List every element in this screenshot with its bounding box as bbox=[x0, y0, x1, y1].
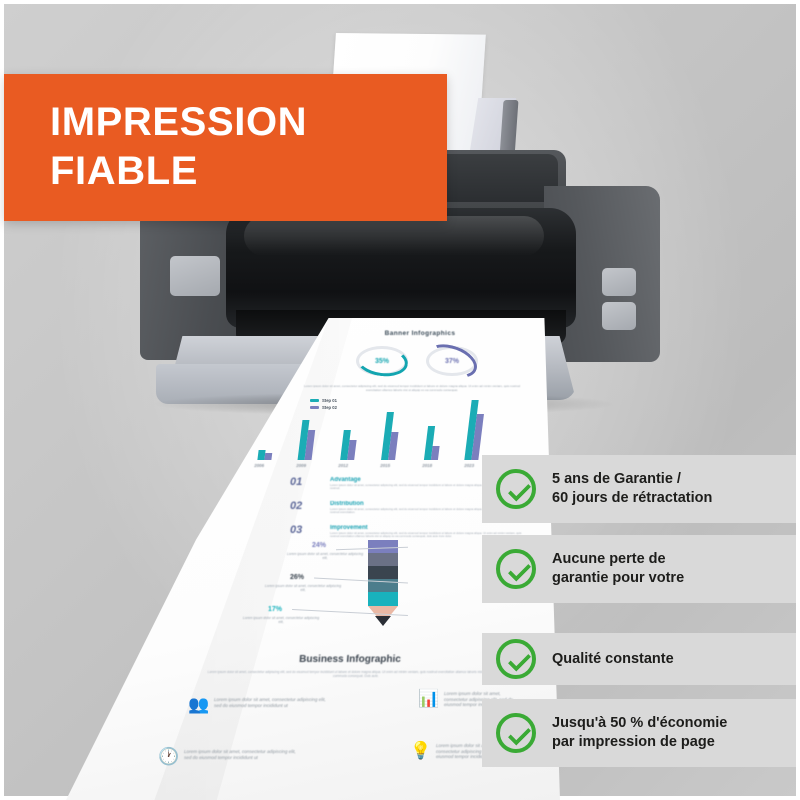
check-circle-icon bbox=[496, 713, 536, 753]
feature-line-2: par impression de page bbox=[552, 734, 715, 750]
panel-button-left[interactable] bbox=[170, 256, 220, 296]
bar-step-02 bbox=[431, 446, 440, 460]
funnel-segment-5 bbox=[368, 592, 398, 606]
feature-callout-text: Jusqu'à 50 % d'économie par impression d… bbox=[552, 714, 727, 752]
feature-line-1: Aucune perte de bbox=[552, 551, 666, 567]
business-section-paragraph: Lorem ipsum dolor sit amet, consectetur … bbox=[206, 670, 507, 678]
business-section-title: Business Infographic bbox=[220, 654, 481, 665]
donut-value: 35% bbox=[356, 346, 408, 376]
feature-callout-1: 5 ans de Garantie / 60 jours de rétracta… bbox=[482, 455, 796, 523]
bar-chart bbox=[256, 400, 512, 460]
icon-block-text-3: Lorem ipsum dolor sit amet, consectetur … bbox=[184, 749, 296, 760]
intro-paragraph: Lorem ipsum dolor sit amet, consectetur … bbox=[302, 384, 522, 392]
x-axis-label: 2012 bbox=[338, 463, 348, 468]
donut-chart-2: 37% bbox=[426, 346, 478, 376]
panel-button-right-top[interactable] bbox=[602, 268, 636, 296]
printer-housing-highlight bbox=[244, 216, 544, 256]
check-circle-icon bbox=[496, 639, 536, 679]
x-axis-label: 2018 bbox=[422, 463, 432, 468]
feature-callout-text: 5 ans de Garantie / 60 jours de rétracta… bbox=[552, 470, 712, 508]
bar-group bbox=[298, 420, 317, 460]
feature-callout-3: Qualité constante bbox=[482, 633, 796, 685]
icon-block-text-1: Lorem ipsum dolor sit amet, consectetur … bbox=[214, 697, 326, 708]
funnel-segment-3 bbox=[368, 566, 398, 580]
headline-line-2: FIABLE bbox=[50, 149, 198, 193]
bar-chart-x-axis: 200620092012201520182023 bbox=[251, 463, 516, 473]
x-axis-label: 2009 bbox=[296, 463, 306, 468]
bar-step-02 bbox=[264, 453, 272, 460]
panel-button-right-bottom[interactable] bbox=[602, 302, 636, 330]
bar-group bbox=[424, 426, 442, 460]
feature-line-2: garantie pour votre bbox=[552, 570, 684, 586]
x-axis-label: 2006 bbox=[254, 463, 264, 468]
people-group-icon: 👥 bbox=[188, 696, 209, 713]
funnel-pencil-graphic: 24%Lorem ipsum dolor sit amet, consectet… bbox=[208, 540, 508, 660]
x-axis-label: 2023 bbox=[464, 463, 474, 468]
headline-line-1: IMPRESSION bbox=[50, 100, 307, 144]
donut-value: 37% bbox=[426, 346, 478, 376]
lightbulb-idea-icon: 💡 bbox=[410, 742, 431, 759]
feature-line-1: Jusqu'à 50 % d'économie bbox=[552, 715, 727, 731]
clock-icon: 🕐 bbox=[158, 748, 179, 765]
pencil-lead bbox=[375, 616, 391, 626]
infographic-title: Banner Infographics bbox=[330, 330, 510, 337]
funnel-percent-1: 24% bbox=[312, 542, 326, 549]
feature-callout-text: Qualité constante bbox=[552, 650, 674, 669]
feature-callout-2: Aucune perte de garantie pour votre bbox=[482, 535, 796, 603]
funnel-caption-1: Lorem ipsum dolor sit amet, consectetur … bbox=[286, 552, 364, 560]
bar-chart-growth-icon: 📊 bbox=[418, 690, 439, 707]
funnel-caption-2: Lorem ipsum dolor sit amet, consectetur … bbox=[264, 584, 342, 592]
bar-group bbox=[340, 430, 358, 460]
bar-group bbox=[257, 450, 272, 460]
headline-banner: IMPRESSION FIABLE bbox=[4, 74, 447, 221]
check-circle-icon bbox=[496, 469, 536, 509]
promotional-product-image: Banner Infographics 35% 37% Lorem ipsum … bbox=[0, 0, 800, 800]
feature-line-1: 5 ans de Garantie / bbox=[552, 471, 681, 487]
bar-group bbox=[381, 412, 401, 460]
bar-step-02 bbox=[347, 440, 356, 460]
funnel-percent-2: 26% bbox=[290, 574, 304, 581]
funnel-percent-3: 17% bbox=[268, 606, 282, 613]
donut-chart-1: 35% bbox=[356, 346, 408, 376]
check-circle-icon bbox=[496, 549, 536, 589]
funnel-caption-3: Lorem ipsum dolor sit amet, consectetur … bbox=[242, 616, 320, 624]
list-item-number: 02 bbox=[290, 500, 302, 512]
feature-line-2: 60 jours de rétractation bbox=[552, 490, 712, 506]
list-item-number: 01 bbox=[290, 476, 302, 488]
feature-callout-text: Aucune perte de garantie pour votre bbox=[552, 550, 684, 588]
page-title: IMPRESSION FIABLE bbox=[50, 98, 307, 196]
feature-callout-4: Jusqu'à 50 % d'économie par impression d… bbox=[482, 699, 796, 767]
feature-line-1: Qualité constante bbox=[552, 651, 674, 667]
bar-group bbox=[464, 400, 485, 460]
funnel-segment-2 bbox=[368, 553, 398, 567]
list-item-number: 03 bbox=[290, 524, 302, 536]
x-axis-label: 2015 bbox=[380, 463, 390, 468]
